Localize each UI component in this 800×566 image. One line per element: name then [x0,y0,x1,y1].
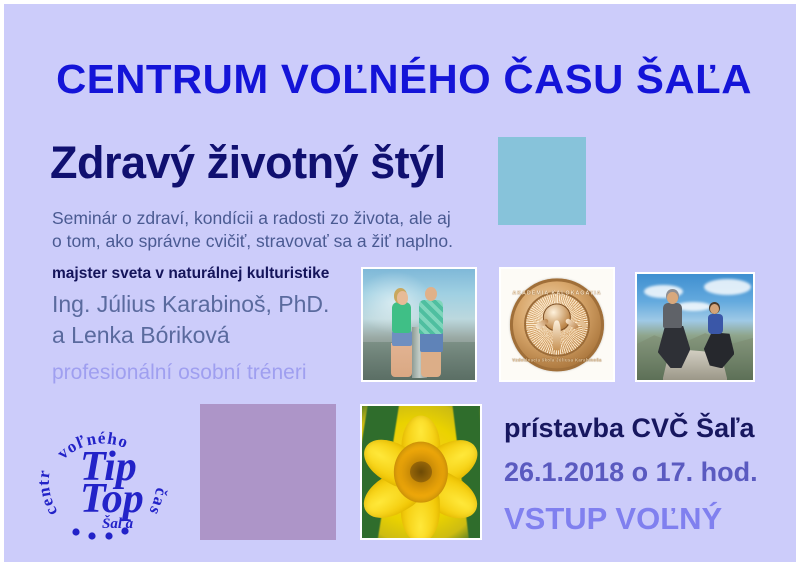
woman-torso [392,302,411,333]
presenter-name-primary: Ing. Július Karabinoš, PhD. [52,289,329,320]
poster-canvas: CENTRUM VOĽNÉHO ČASU ŠAĽA Zdravý životný… [0,0,800,566]
badge-arc-bottom-text: Vzdelávacia škola Júliusa Karabinoša [510,358,604,363]
woman-shorts [392,331,412,345]
hiker-man-torso [663,303,683,328]
seminar-title: Zdravý životný štýl [50,137,446,189]
presenter-kicker: majster sveta v naturálnej kulturistike [52,265,329,283]
logo-wordmark-town: Šaľa [102,515,134,532]
photo-mountain-pair [635,272,755,382]
presenter-role: profesionální osobní tréneri [52,361,307,385]
man-legs [421,351,441,377]
seminar-description-line-2: o tom, ako správne cvičiť, stravovať sa … [52,230,502,253]
logo-arc-left-text: centrum [28,408,61,519]
photo-academy-badge: AKADÉMIA KALOKAGATIA Vzdelávacia škola J… [499,267,615,382]
hiker-woman-torso [708,314,723,334]
seminar-description-line-1: Seminár o zdraví, kondícii a radosti zo … [52,207,502,230]
logo-wordmark: Tip Top Šaľa [80,444,144,532]
page-title: CENTRUM VOĽNÉHO ČASU ŠAĽA [0,56,800,103]
event-datetime: 26.1.2018 o 17. hod. [504,457,758,488]
badge-arc-top-text: AKADÉMIA KALOKAGATIA [510,290,604,296]
woman-legs [391,343,412,376]
presenter-names: Ing. Július Karabinoš, PhD. a Lenka Bóri… [52,289,329,351]
placeholder-teal-block [498,137,586,225]
presenter-name-secondary: a Lenka Bóriková [52,320,329,351]
placeholder-mauve-block [200,404,336,540]
seminar-description: Seminár o zdraví, kondícii a radosti zo … [52,207,502,253]
hiker-woman-head [710,304,719,315]
event-admission: VSTUP VOĽNÝ [504,501,722,537]
man-head [425,287,437,301]
woman-head [397,291,408,304]
badge-disc: AKADÉMIA KALOKAGATIA Vzdelávacia škola J… [510,278,604,371]
flower-trumpet [394,442,448,503]
photo-couple-fountain [361,267,477,382]
man-shorts [420,332,442,352]
cloud-right [704,279,750,295]
photo-daffodil [360,404,482,540]
hiker-man-head [667,292,677,304]
atlas-figure [553,321,561,351]
cvc-tiptop-logo: centrum voľného času Tip Top Šaľa [28,408,176,556]
event-venue: prístavba CVČ Šaľa [504,413,755,444]
man-torso [419,300,443,334]
